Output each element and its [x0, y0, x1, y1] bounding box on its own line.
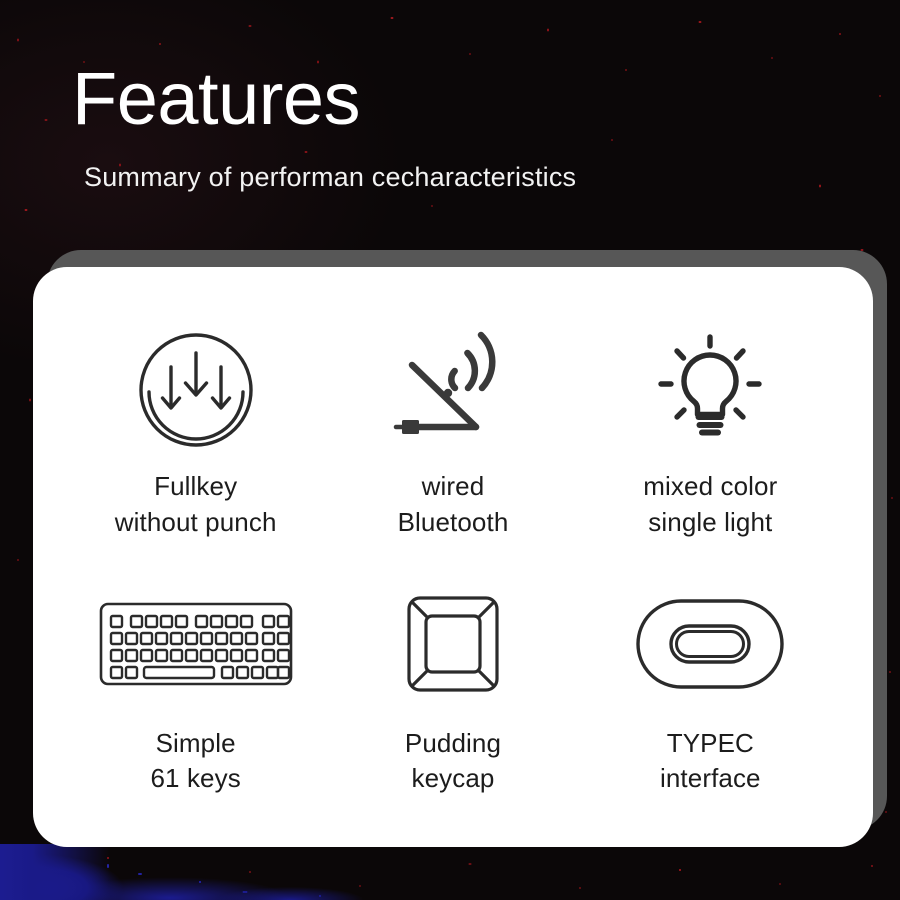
- feature-pudding-keycap[interactable]: Pudding keycap: [324, 588, 581, 797]
- feature-fullkey[interactable]: Fullkey without punch: [67, 325, 324, 540]
- feature-wired-bluetooth[interactable]: wired Bluetooth: [324, 325, 581, 540]
- page-title: Features: [72, 62, 360, 136]
- feature-typec-interface[interactable]: TYPEC interface: [582, 588, 839, 797]
- keyboard-icon: [98, 588, 294, 700]
- wired-wireless-signal-icon: [392, 325, 514, 455]
- light-bulb-icon: [651, 325, 769, 455]
- feature-label: Pudding keycap: [405, 726, 501, 797]
- down-arrows-circle-icon: [137, 325, 255, 455]
- feature-label: Simple 61 keys: [151, 726, 241, 797]
- feature-label: wired Bluetooth: [398, 469, 509, 540]
- feature-row-1: Fullkey without punch: [67, 325, 839, 540]
- feature-label: TYPEC interface: [660, 726, 761, 797]
- keycap-icon: [405, 588, 501, 700]
- features-card: Fullkey without punch: [33, 267, 873, 847]
- usb-type-c-icon: [635, 588, 785, 700]
- feature-mixed-color-light[interactable]: mixed color single light: [582, 325, 839, 540]
- feature-label: mixed color single light: [643, 469, 777, 540]
- feature-label: Fullkey without punch: [115, 469, 277, 540]
- feature-simple-61-keys[interactable]: Simple 61 keys: [67, 588, 324, 797]
- feature-poster: Features Summary of performan cecharacte…: [0, 0, 900, 900]
- feature-row-2: Simple 61 keys Pudding keycap: [67, 588, 839, 797]
- page-subtitle: Summary of performan cecharacteristics: [84, 162, 576, 193]
